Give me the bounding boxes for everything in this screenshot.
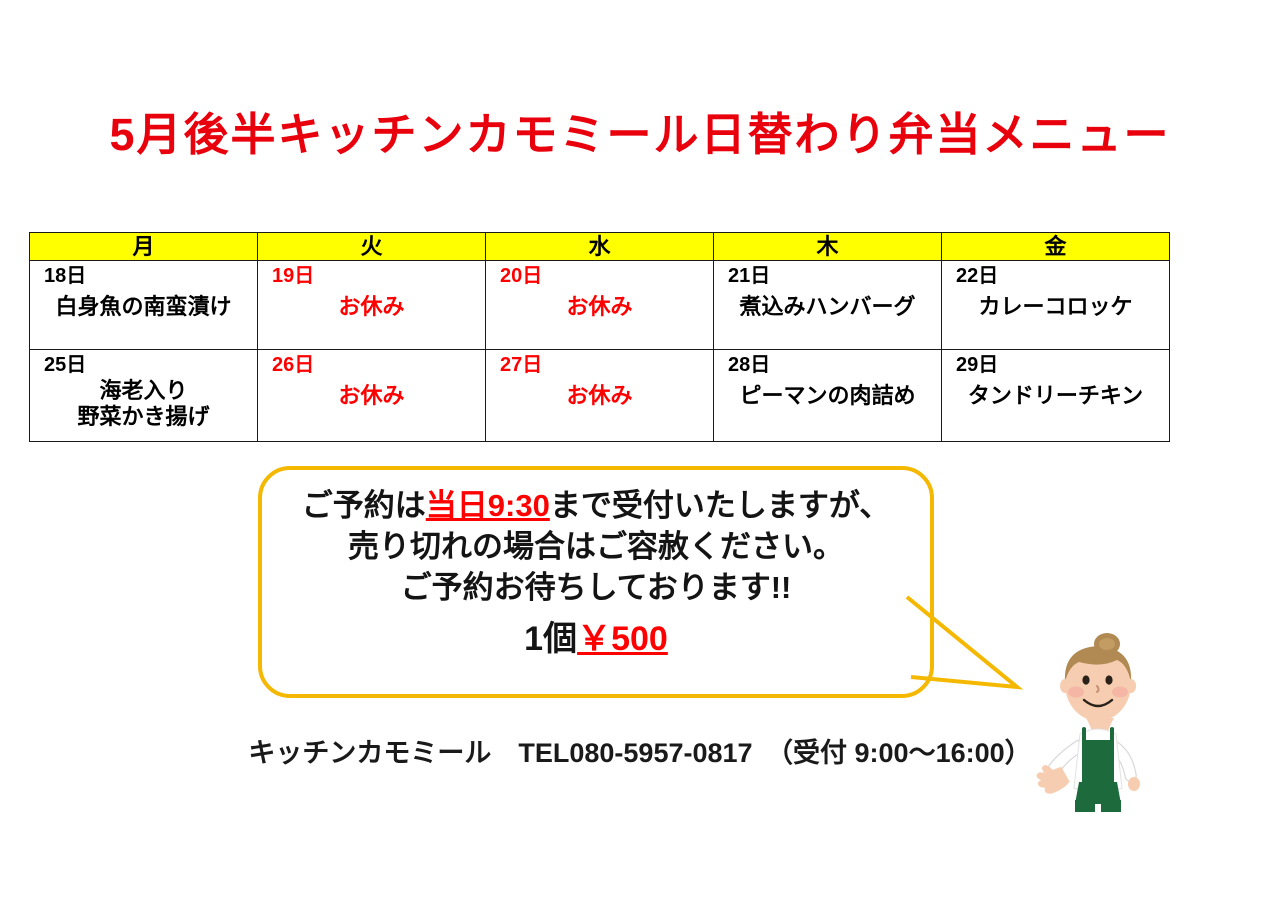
menu-cell-28: 28日 ピーマンの肉詰め — [714, 350, 942, 442]
menu-cell-29: 29日 タンドリーチキン — [942, 350, 1170, 442]
menu-cell-19: 19日 お休み — [258, 261, 486, 350]
menu-cell-21: 21日 煮込みハンバーグ — [714, 261, 942, 350]
date-label: 26日 — [258, 350, 485, 377]
dish-label: 煮込みハンバーグ — [714, 288, 941, 320]
date-label: 21日 — [714, 261, 941, 288]
dish-label: お休み — [258, 377, 485, 409]
bubble-line-2: 売り切れの場合はご容赦ください。 — [262, 527, 930, 568]
day-header-thu: 木 — [714, 233, 942, 261]
page-title: 5月後半キッチンカモミール日替わり弁当メニュー — [0, 112, 1280, 157]
menu-cell-27: 27日 お休み — [486, 350, 714, 442]
menu-cell-20: 20日 お休み — [486, 261, 714, 350]
day-header-fri: 金 — [942, 233, 1170, 261]
bubble-line-4: 1個￥500 — [262, 617, 930, 662]
table-header-row: 月 火 水 木 金 — [30, 233, 1170, 261]
dish-label: お休み — [258, 288, 485, 320]
menu-cell-22: 22日 カレーコロッケ — [942, 261, 1170, 350]
reservation-speech-bubble: ご予約は当日9:30まで受付いたしますが、 売り切れの場合はご容赦ください。 ご… — [258, 466, 934, 698]
date-label: 18日 — [30, 261, 257, 288]
price-highlight: ￥500 — [577, 620, 668, 658]
bubble-line-3: ご予約お待ちしております!! — [262, 568, 930, 609]
dish-label: 白身魚の南蛮漬け — [30, 288, 257, 320]
staff-character-illustration — [1008, 622, 1188, 847]
price-prefix: 1個 — [524, 620, 577, 658]
date-label: 25日 — [30, 350, 257, 377]
bubble-line-1-post: まで受付いたしますが、 — [550, 488, 890, 523]
table-row: 25日 海老入り 野菜かき揚げ 26日 お休み 27日 お休み 28日 ピーマン… — [30, 350, 1170, 442]
day-header-wed: 水 — [486, 233, 714, 261]
date-label: 29日 — [942, 350, 1169, 377]
bubble-deadline-highlight: 当日9:30 — [426, 488, 550, 523]
dish-label: ピーマンの肉詰め — [714, 377, 941, 409]
bubble-line-1-pre: ご予約は — [302, 488, 426, 523]
date-label: 20日 — [486, 261, 713, 288]
dish-label: タンドリーチキン — [942, 377, 1169, 409]
menu-cell-18: 18日 白身魚の南蛮漬け — [30, 261, 258, 350]
dish-label: 海老入り 野菜かき揚げ — [30, 377, 257, 430]
dish-label: お休み — [486, 377, 713, 409]
date-label: 27日 — [486, 350, 713, 377]
menu-cell-25: 25日 海老入り 野菜かき揚げ — [30, 350, 258, 442]
date-label: 22日 — [942, 261, 1169, 288]
dish-label: お休み — [486, 288, 713, 320]
menu-cell-26: 26日 お休み — [258, 350, 486, 442]
weekly-menu-table: 月 火 水 木 金 18日 白身魚の南蛮漬け 19日 お休み 20日 お休み 2… — [29, 232, 1170, 442]
day-header-mon: 月 — [30, 233, 258, 261]
date-label: 28日 — [714, 350, 941, 377]
day-header-tue: 火 — [258, 233, 486, 261]
date-label: 19日 — [258, 261, 485, 288]
bubble-line-1: ご予約は当日9:30まで受付いたしますが、 — [262, 486, 930, 527]
dish-label: カレーコロッケ — [942, 288, 1169, 320]
table-row: 18日 白身魚の南蛮漬け 19日 お休み 20日 お休み 21日 煮込みハンバー… — [30, 261, 1170, 350]
